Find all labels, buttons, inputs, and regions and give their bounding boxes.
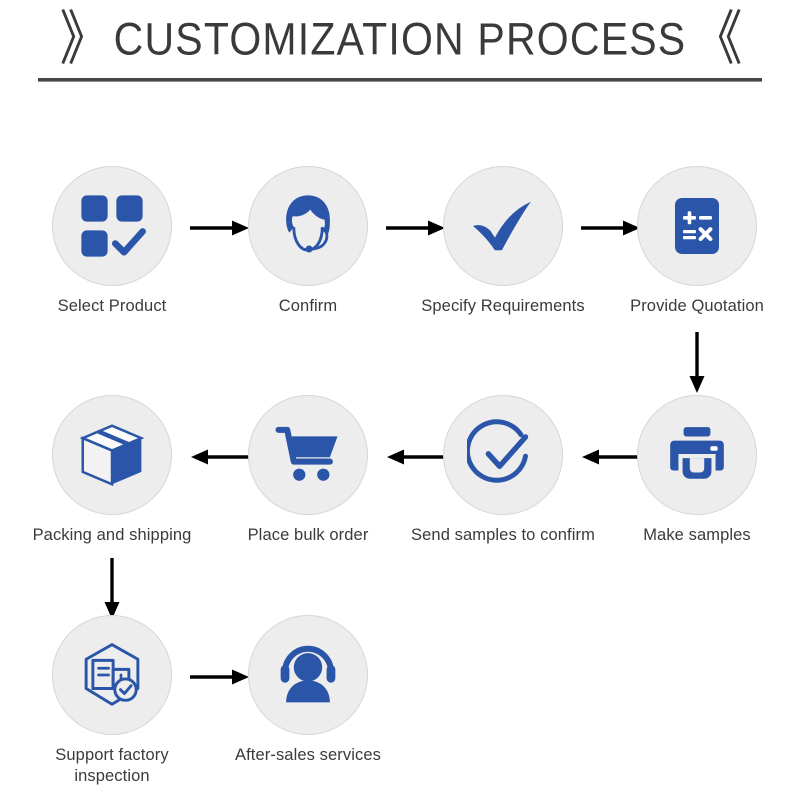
step-icon-circle (248, 615, 368, 735)
step-label: Specify Requirements (403, 296, 603, 317)
customization-process-infographic: 》 CUSTOMIZATION PROCESS 《 Select Product (0, 0, 800, 800)
support-person-icon (273, 640, 343, 710)
step-icon-circle (52, 615, 172, 735)
row2-to-row3-down-arrow (102, 558, 122, 620)
page-header: 》 CUSTOMIZATION PROCESS 《 (0, 0, 800, 96)
step-icon-circle (52, 166, 172, 286)
step-packing-and-shipping[interactable]: Packing and shipping (28, 395, 196, 546)
step-label: Packing and shipping (12, 525, 212, 546)
row1-to-row2-down-arrow (687, 332, 707, 394)
chevron-left-decoration-icon: 《 (692, 10, 740, 69)
title-divider (38, 78, 762, 82)
headset-agent-icon (273, 191, 343, 261)
checkmark-icon (466, 189, 540, 263)
step-after-sales-services[interactable]: After-sales services (224, 615, 392, 766)
calculator-icon (665, 194, 729, 258)
step-place-bulk-order[interactable]: Place bulk order (224, 395, 392, 546)
step-label: Provide Quotation (597, 296, 797, 317)
step-make-samples[interactable]: Make samples (613, 395, 781, 546)
grid-check-icon (77, 191, 147, 261)
step-label: Make samples (613, 525, 781, 546)
step-label: Send samples to confirm (403, 525, 603, 546)
step-support-factory-inspection[interactable]: Support factory inspection (28, 615, 196, 787)
factory-inspection-icon (76, 639, 148, 711)
step-icon-circle (637, 395, 757, 515)
step-send-samples-to-confirm[interactable]: Send samples to confirm (419, 395, 587, 546)
step-label: Confirm (224, 296, 392, 317)
chevron-right-decoration-icon: 》 (60, 10, 108, 69)
page-title: CUSTOMIZATION PROCESS (114, 16, 687, 61)
step-label: Support factory inspection (12, 745, 212, 787)
step-label: After-sales services (208, 745, 408, 766)
shopping-cart-icon (273, 420, 343, 490)
step-label: Select Product (28, 296, 196, 317)
step-confirm[interactable]: Confirm (224, 166, 392, 317)
step-icon-circle (52, 395, 172, 515)
circle-check-icon (467, 419, 539, 491)
step-icon-circle (443, 395, 563, 515)
step-icon-circle (248, 395, 368, 515)
step-provide-quotation[interactable]: Provide Quotation (613, 166, 781, 317)
step-specify-requirements[interactable]: Specify Requirements (419, 166, 587, 317)
step-icon-circle (637, 166, 757, 286)
title-row: 》 CUSTOMIZATION PROCESS 《 (0, 8, 800, 70)
printer-icon (664, 422, 730, 488)
step-icon-circle (248, 166, 368, 286)
step-label: Place bulk order (208, 525, 408, 546)
package-box-icon (76, 419, 148, 491)
step-select-product[interactable]: Select Product (28, 166, 196, 317)
step-icon-circle (443, 166, 563, 286)
